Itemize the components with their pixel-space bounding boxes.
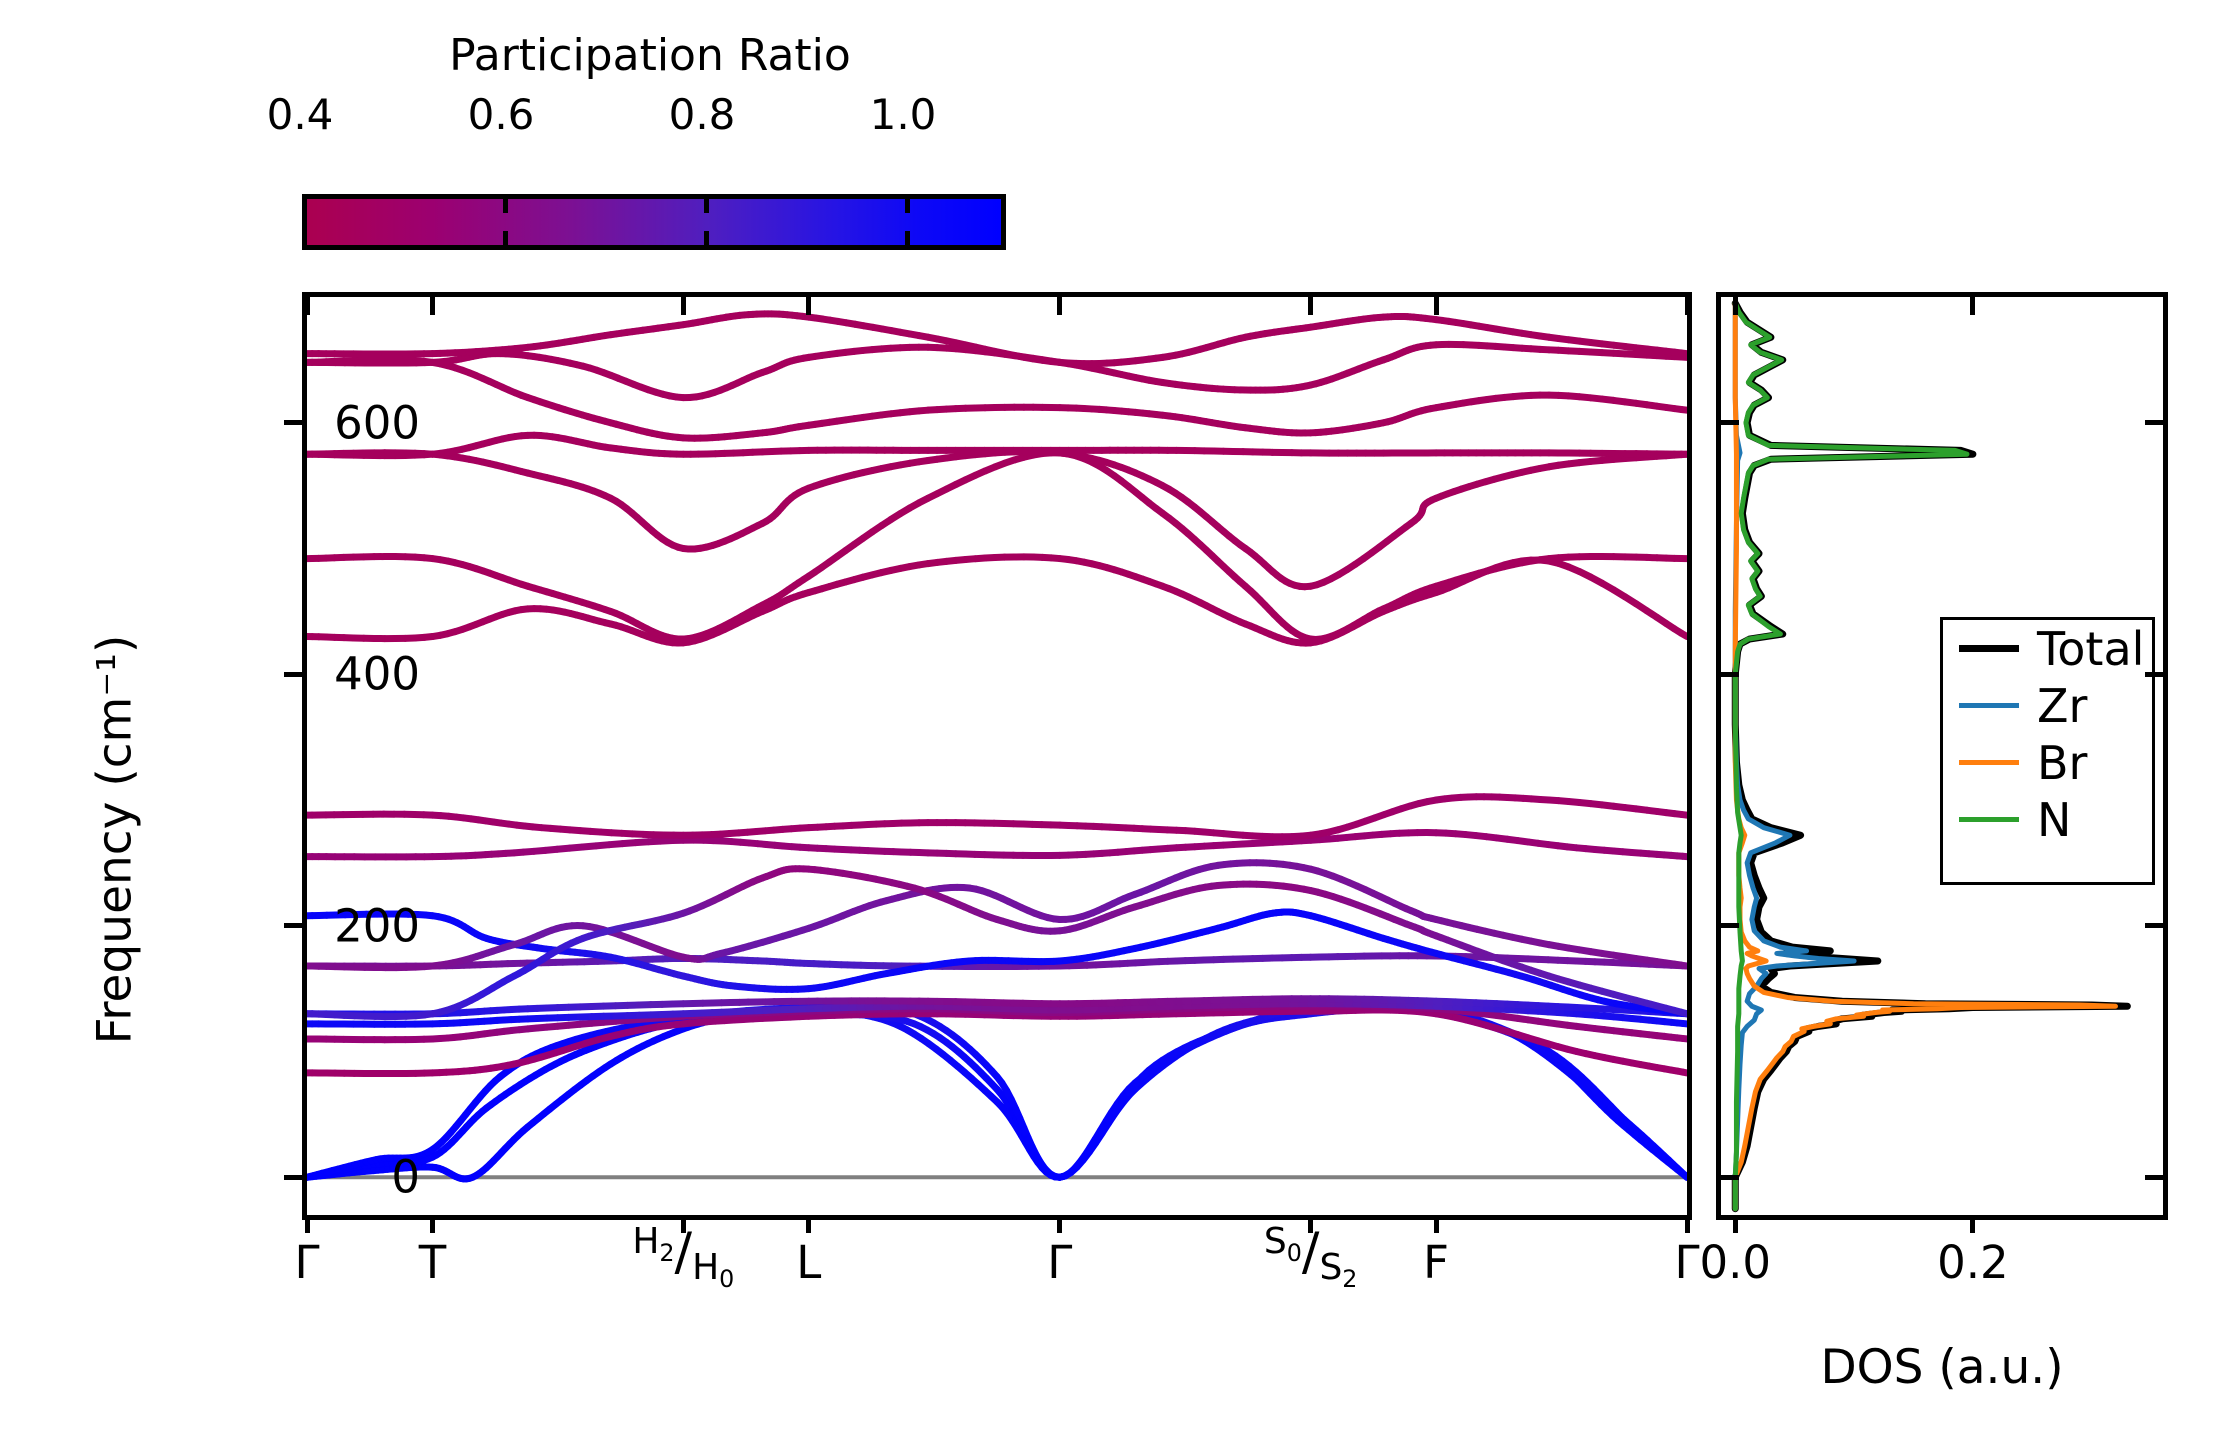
dos-x-axis-tick [1970,1215,1975,1233]
dos-y-axis-tick-left [1721,672,1739,677]
legend-swatch-total [1959,645,2019,652]
dos-legend: Total Zr Br N [1940,617,2155,885]
y-axis-tick [284,420,302,425]
y-axis-tick [284,923,302,928]
legend-item-n[interactable]: N [1943,791,2152,848]
x-axis-tick [430,1215,435,1233]
legend-swatch-n [1959,817,2019,822]
x-axis-tick-top [305,297,310,315]
dos-x-axis-tick-top [1733,297,1738,315]
x-axis-tick-top [1685,297,1690,315]
x-axis-tick [1685,1215,1690,1233]
dos-x-axis-tick-labels: 0.00.2 [0,0,2222,1455]
x-axis-tick-top [1308,297,1313,315]
legend-item-zr[interactable]: Zr [1943,677,2152,734]
dos-x-axis-tick-label: 0.2 [1937,1236,2009,1289]
y-axis-tick [284,1175,302,1180]
dos-y-axis-tick-left [1721,1175,1739,1180]
dos-x-axis-label: DOS (a.u.) [1820,1340,2063,1395]
dos-y-axis-tick-right [2145,420,2163,425]
dos-y-axis-tick-right [2145,1175,2163,1180]
legend-item-total[interactable]: Total [1943,620,2152,677]
dos-y-axis-tick-right [2145,923,2163,928]
legend-item-br[interactable]: Br [1943,734,2152,791]
legend-swatch-br [1959,760,2019,765]
legend-swatch-zr [1959,703,2019,708]
dos-x-axis-tick-label: 0.0 [1699,1236,1771,1289]
legend-label-zr: Zr [2037,683,2087,729]
dos-y-axis-tick-left [1721,420,1739,425]
dos-y-axis-tick-left [1721,923,1739,928]
x-axis-tick [1434,1215,1439,1233]
dos-y-axis-tick-right [2145,672,2163,677]
x-axis-tick [806,1215,811,1233]
x-axis-tick-top [806,297,811,315]
x-axis-tick-top [1434,297,1439,315]
figure-canvas: Participation Ratio 0.4 0.6 0.8 1.0 Freq… [0,0,2222,1455]
x-axis-tick [1308,1215,1313,1233]
x-axis-tick [1057,1215,1062,1233]
x-axis-tick-top [1057,297,1062,315]
legend-label-total: Total [2037,626,2144,672]
x-axis-tick-top [430,297,435,315]
dos-x-axis-tick [1733,1215,1738,1233]
y-axis-tick [284,672,302,677]
x-axis-tick [681,1215,686,1233]
dos-x-axis-tick-top [1970,297,1975,315]
x-axis-tick-top [681,297,686,315]
x-axis-tick [305,1215,310,1233]
legend-label-br: Br [2037,740,2087,786]
legend-label-n: N [2037,797,2071,843]
